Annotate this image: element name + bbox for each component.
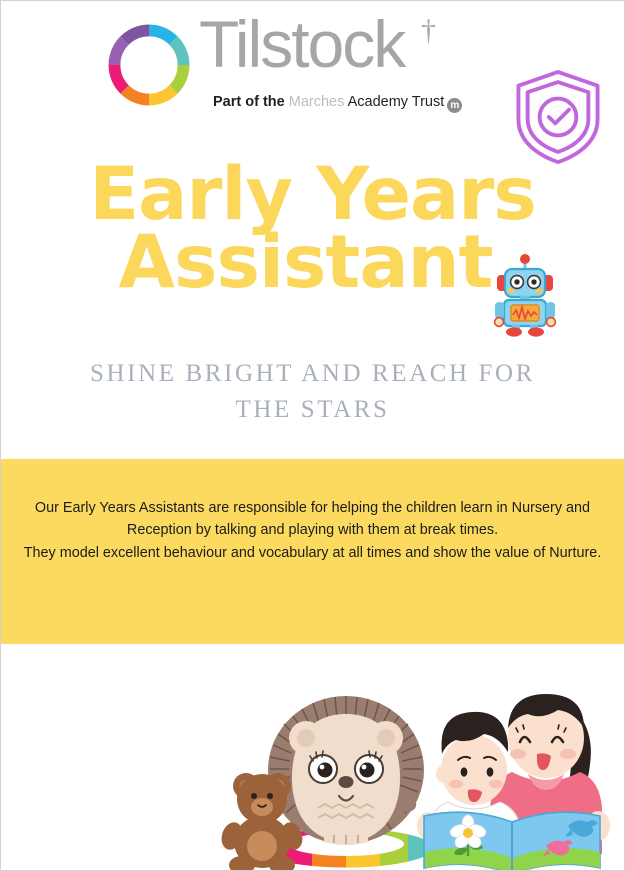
cross-icon: † (421, 16, 436, 46)
hedgehog-and-children-illustration (206, 666, 621, 871)
poster-subtitle: SHINE BRIGHT AND REACH FOR THE STARS (1, 356, 624, 429)
description-paragraph-2: They model excellent behaviour and vocab… (13, 542, 612, 564)
poster-subtitle-line-2: THE STARS (1, 392, 624, 428)
description-paragraph-1: Our Early Years Assistants are responsib… (13, 497, 612, 542)
poster-subtitle-line-1: SHINE BRIGHT AND REACH FOR (1, 356, 624, 392)
description-text: Our Early Years Assistants are responsib… (13, 497, 612, 564)
trust-strapline: Part of the Marches Academy Trustm (213, 95, 462, 113)
marches-badge-icon: m (447, 98, 462, 113)
trust-prefix: Part of the (213, 94, 285, 110)
school-wordmark: Tilstock † (199, 15, 469, 93)
trust-highlight: Marches (289, 94, 345, 110)
color-wheel-logo-icon (105, 21, 193, 109)
robot-icon (493, 253, 557, 337)
trust-suffix: Academy Trust (348, 94, 445, 110)
poster-page: Tilstock † Part of the Marches Academy T… (0, 0, 625, 871)
school-logo: Tilstock † Part of the Marches Academy T… (105, 15, 465, 115)
page-title-line-1: Early Years (1, 161, 624, 229)
children-reading-icon (417, 694, 610, 871)
school-name: Tilstock (199, 11, 404, 77)
description-band: Our Early Years Assistants are responsib… (1, 459, 624, 644)
poster-header: Tilstock † Part of the Marches Academy T… (1, 1, 624, 171)
